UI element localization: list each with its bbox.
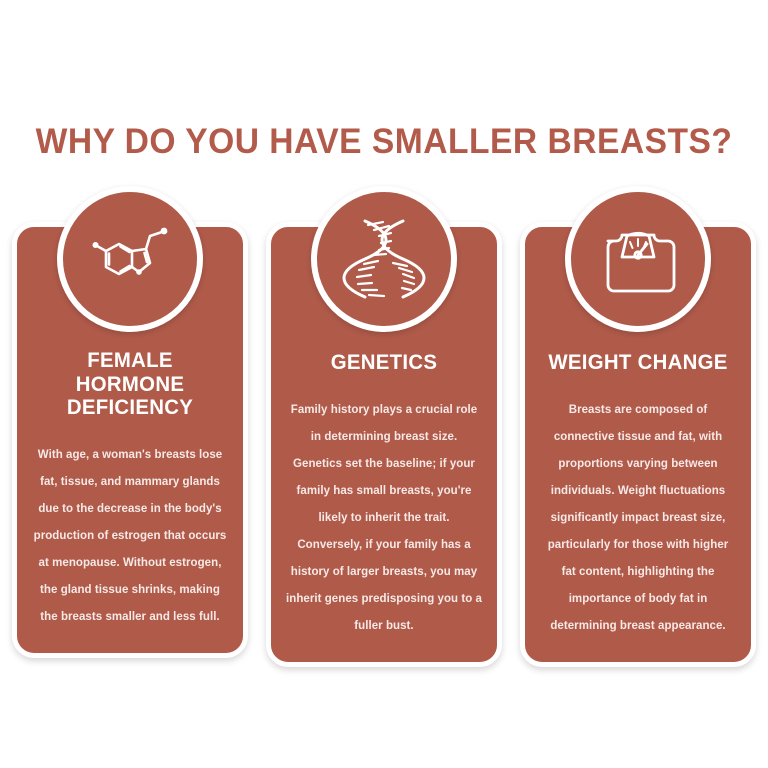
card-weight-change: WEIGHT CHANGE Breasts are composed of co…	[520, 186, 756, 667]
card-body-text: Breasts are composed of connective tissu…	[539, 397, 737, 640]
card-icon-badge	[57, 186, 203, 332]
page-title: WHY DO YOU HAVE SMALLER BREASTS?	[15, 122, 752, 162]
card-icon-badge	[311, 186, 457, 332]
card-heading: GENETICS	[288, 351, 480, 375]
card-heading: WEIGHT CHANGE	[542, 351, 734, 375]
hormone-molecule-icon	[84, 213, 176, 305]
card-body-text: Family history plays a crucial role in d…	[285, 397, 483, 640]
card-heading: FEMALE HORMONE DEFICIENCY	[34, 349, 226, 420]
card-icon-badge	[565, 186, 711, 332]
weight-scale-icon	[594, 215, 682, 303]
card-genetics: GENETICS Family history plays a crucial …	[266, 186, 502, 667]
dna-helix-icon	[341, 213, 427, 305]
card-body-text: With age, a woman's breasts lose fat, ti…	[31, 442, 229, 631]
card-female-hormone-deficiency: FEMALE HORMONE DEFICIENCY With age, a wo…	[12, 186, 248, 658]
infographic-root: WHY DO YOU HAVE SMALLER BREASTS?	[0, 0, 768, 768]
cards-row: FEMALE HORMONE DEFICIENCY With age, a wo…	[12, 186, 756, 667]
